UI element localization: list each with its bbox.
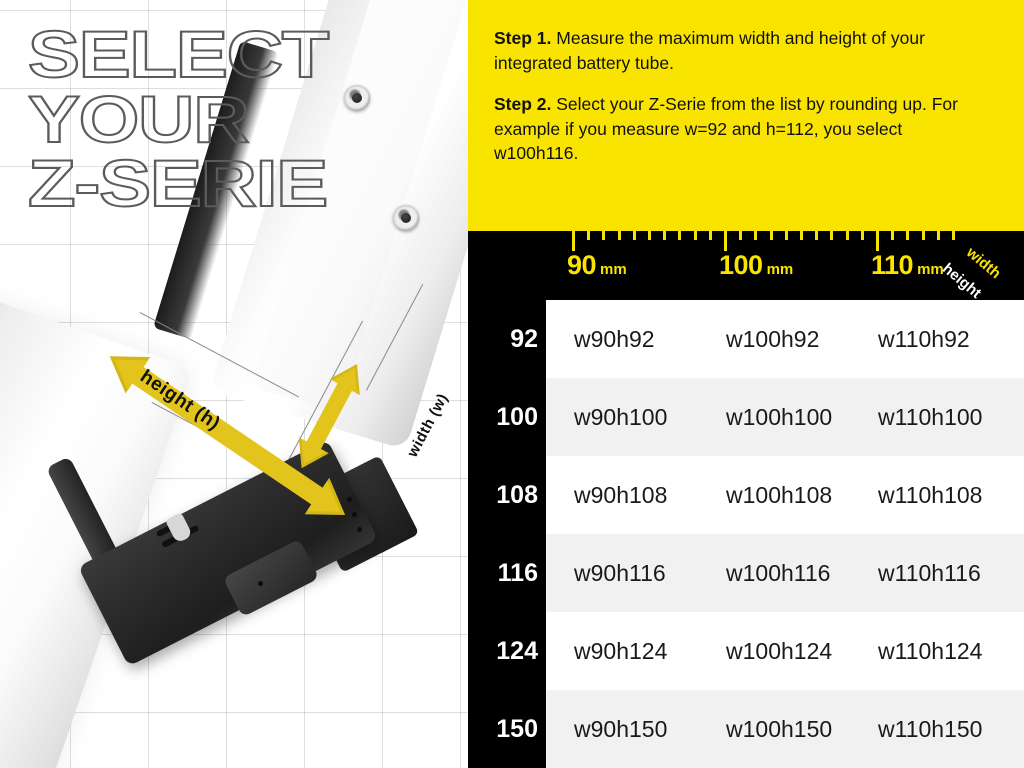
size-cell-w110h150[interactable]: w110h150: [878, 716, 982, 743]
size-cell-w90h116[interactable]: w90h116: [574, 560, 666, 587]
bracket-screw-dot: [357, 527, 362, 532]
ruler-tick-minor: [922, 231, 925, 240]
step-1-label: Step 1.: [494, 28, 551, 48]
page-title: SELECT YOUR Z-SERIE: [28, 22, 328, 216]
size-cell-w110h108[interactable]: w110h108: [878, 482, 982, 509]
product-photo-panel: height (h) width (w) SELECT YOUR Z-SERIE: [0, 0, 468, 768]
row-header-100: 100: [468, 378, 546, 456]
size-cell-w100h100[interactable]: w100h100: [726, 404, 832, 431]
column-header-value: 110: [871, 250, 913, 280]
instructions-block: Step 1. Measure the maximum width and he…: [468, 0, 1024, 231]
bottle-cage-bolt-icon: [344, 85, 370, 111]
ruler-tick-major: [876, 231, 879, 251]
table-row[interactable]: 108w90h108w100h108w110h108: [468, 456, 1024, 534]
ruler-tick-major: [572, 231, 575, 251]
table-row[interactable]: 100w90h100w100h100w110h100: [468, 378, 1024, 456]
size-cell-w90h124[interactable]: w90h124: [574, 638, 667, 665]
table-row-cells: w90h116w100h116w110h116: [546, 534, 1024, 612]
ruler-tick-minor: [906, 231, 909, 240]
ruler-tick-minor: [891, 231, 894, 240]
table-row[interactable]: 150w90h150w100h150w110h150: [468, 690, 1024, 768]
size-cell-w110h92[interactable]: w110h92: [878, 326, 970, 353]
row-header-124: 124: [468, 612, 546, 690]
table-row-cells: w90h108w100h108w110h108: [546, 456, 1024, 534]
size-cell-w110h100[interactable]: w110h100: [878, 404, 982, 431]
ruler-tick-minor: [770, 231, 773, 240]
ruler-tick-minor: [830, 231, 833, 240]
ruler-tick-minor: [678, 231, 681, 240]
table-row[interactable]: 92w90h92w100h92w110h92: [468, 300, 1024, 378]
size-cell-w100h116[interactable]: w100h116: [726, 560, 830, 587]
ruler-tick-minor: [815, 231, 818, 240]
table-row-cells: w90h92w100h92w110h92: [546, 300, 1024, 378]
column-header-value: 90: [567, 250, 596, 280]
ruler-tick-minor: [694, 231, 697, 240]
page-title-line-3: Z-SERIE: [28, 151, 328, 216]
column-header-value: 100: [719, 250, 763, 280]
ruler-tick-minor: [633, 231, 636, 240]
table-row[interactable]: 116w90h116w100h116w110h116: [468, 534, 1024, 612]
size-cell-w100h124[interactable]: w100h124: [726, 638, 832, 665]
ruler-tick-minor: [663, 231, 666, 240]
ruler-tick-minor: [602, 231, 605, 240]
page-title-line-2: YOUR: [28, 87, 328, 152]
bracket-screw-dot: [258, 581, 263, 586]
size-cell-w90h100[interactable]: w90h100: [574, 404, 667, 431]
ruler-tick-major: [724, 231, 727, 251]
ruler-tick-minor: [648, 231, 651, 240]
table-row-cells: w90h100w100h100w110h100: [546, 378, 1024, 456]
size-cell-w110h116[interactable]: w110h116: [878, 560, 981, 587]
size-cell-w90h92[interactable]: w90h92: [574, 326, 655, 353]
row-header-108: 108: [468, 456, 546, 534]
ruler-tick-minor: [709, 231, 712, 240]
row-header-116: 116: [468, 534, 546, 612]
size-cell-w90h150[interactable]: w90h150: [574, 716, 667, 743]
step-2-label: Step 2.: [494, 94, 551, 114]
table-row[interactable]: 124w90h124w100h124w110h124: [468, 612, 1024, 690]
ruler-tick-minor: [587, 231, 590, 240]
column-header-unit: mm: [600, 261, 627, 278]
instruction-step-2: Step 2. Select your Z-Serie from the lis…: [494, 92, 969, 167]
size-table: 92w90h92w100h92w110h92100w90h100w100h100…: [468, 300, 1024, 768]
ruler-tick-minor: [618, 231, 621, 240]
column-header-90: 90mm: [567, 250, 627, 281]
ruler-tick-minor: [785, 231, 788, 240]
selector-panel: Step 1. Measure the maximum width and he…: [468, 0, 1024, 768]
row-header-150: 150: [468, 690, 546, 768]
step-2-text: Select your Z-Serie from the list by rou…: [494, 94, 958, 164]
ruler-tick-minor: [861, 231, 864, 240]
ruler-tick-minor: [846, 231, 849, 240]
table-row-cells: w90h124w100h124w110h124: [546, 612, 1024, 690]
table-row-cells: w90h150w100h150w110h150: [546, 690, 1024, 768]
ruler-tick-minor: [800, 231, 803, 240]
ruler-tick-minor: [937, 231, 940, 240]
bottle-cage-bolt-icon: [393, 205, 419, 231]
size-cell-w100h92[interactable]: w100h92: [726, 326, 819, 353]
size-cell-w90h108[interactable]: w90h108: [574, 482, 667, 509]
size-cell-w110h124[interactable]: w110h124: [878, 638, 982, 665]
ruler-tick-minor: [754, 231, 757, 240]
infographic-root: height (h) width (w) SELECT YOUR Z-SERIE…: [0, 0, 1024, 768]
column-header-110: 110mm: [871, 250, 944, 281]
width-arrow-icon: [372, 372, 468, 532]
size-cell-w100h108[interactable]: w100h108: [726, 482, 832, 509]
column-header-unit: mm: [917, 261, 944, 278]
instruction-step-1: Step 1. Measure the maximum width and he…: [494, 26, 969, 76]
column-header-100: 100mm: [719, 250, 793, 281]
page-title-line-1: SELECT: [28, 22, 328, 87]
step-1-text: Measure the maximum width and height of …: [494, 28, 925, 73]
axis-corner-labels: width height: [946, 238, 1024, 304]
row-header-92: 92: [468, 300, 546, 378]
column-header-unit: mm: [767, 261, 794, 278]
size-cell-w100h150[interactable]: w100h150: [726, 716, 832, 743]
ruler-tick-minor: [739, 231, 742, 240]
